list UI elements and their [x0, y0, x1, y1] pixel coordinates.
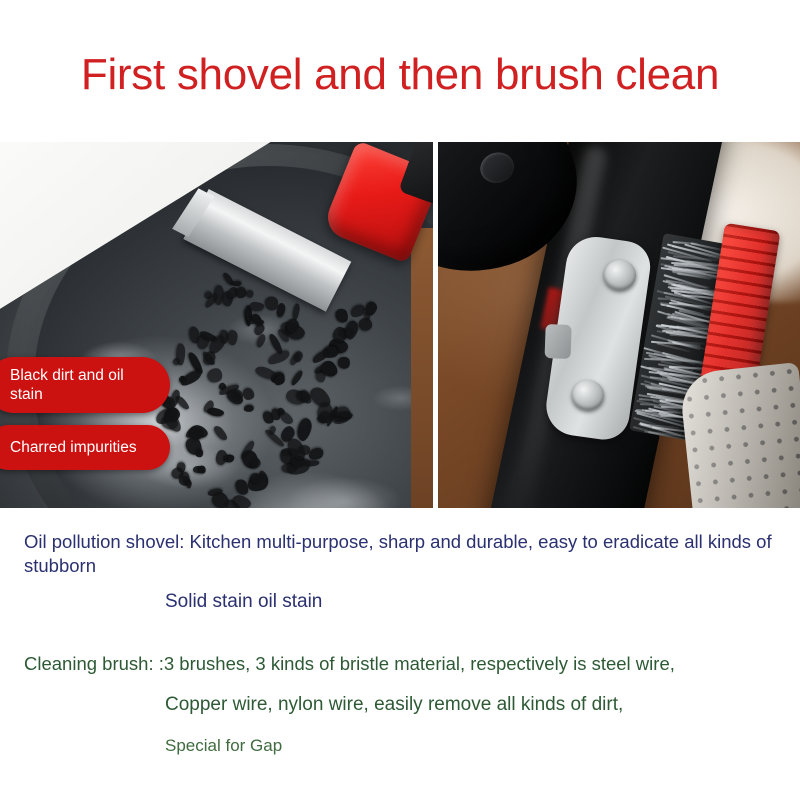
badge-black-dirt-and-oil-stain: Black dirt and oil stain	[0, 357, 170, 413]
bolt-lower	[572, 380, 604, 410]
brush-description-line-2: Copper wire, nylon wire, easily remove a…	[165, 694, 623, 716]
photo-band: Black dirt and oil stain Charred impurit…	[0, 142, 800, 508]
shovel-emphasis-line: Solid stain oil stain	[165, 591, 322, 613]
photo-wire-brush-cleaning-bracket	[438, 142, 800, 508]
page-title: First shovel and then brush clean	[0, 40, 800, 110]
brush-description-line-1: Cleaning brush: :3 brushes, 3 kinds of b…	[24, 653, 675, 675]
product-advertisement-page: First shovel and then brush clean Black …	[0, 0, 800, 800]
cap-dimple	[476, 148, 518, 187]
brush-description-line-3: Special for Gap	[165, 736, 282, 756]
shovel-description-paragraph: Oil pollution shovel: Kitchen multi-purp…	[24, 530, 776, 578]
perforated-strainer	[678, 362, 800, 508]
badge-charred-impurities: Charred impurities	[0, 425, 170, 470]
bracket-notch	[545, 324, 572, 359]
strainer-shading	[678, 362, 800, 508]
bolt-upper	[604, 260, 636, 290]
photo-dirty-wok-with-scraper: Black dirt and oil stain Charred impurit…	[0, 142, 433, 508]
page-title-text: First shovel and then brush clean	[81, 50, 719, 100]
